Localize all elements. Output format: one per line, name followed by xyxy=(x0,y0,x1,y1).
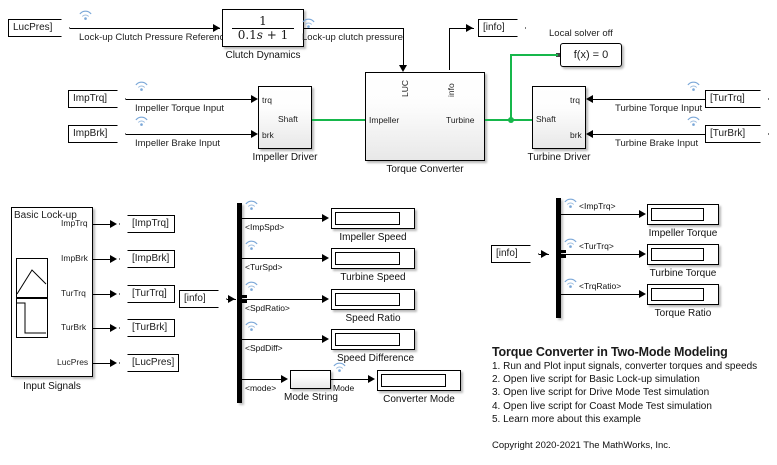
wireless-signal-icon xyxy=(135,81,148,92)
info-from-tag-torques-label: [info] xyxy=(496,248,518,259)
wireless-signal-icon xyxy=(564,198,577,209)
bus-port xyxy=(561,250,566,253)
turtrq-from-tag-label: [TurTrq] xyxy=(710,93,745,104)
imptrq-from-tag-label: ImpTrq] xyxy=(73,93,107,104)
local-solver-off-label: Local solver off xyxy=(549,28,613,39)
step-waveform-icon xyxy=(16,298,48,338)
impeller-driver-port-shaft: Shaft xyxy=(278,114,298,124)
wireless-signal-icon xyxy=(564,238,577,249)
turtrq-goto-tag[interactable]: [TurTrq] xyxy=(119,285,175,303)
arrowhead xyxy=(228,295,235,303)
signal-label-imptrq-scope: <ImpTrq> xyxy=(579,201,616,211)
impeller-brake-input-label: Impeller Brake Input xyxy=(135,138,220,149)
physical-connection-solver-v xyxy=(510,55,512,119)
torque-ratio-label: Torque Ratio xyxy=(636,308,730,319)
arrowhead xyxy=(110,220,117,228)
bus-selector-torques[interactable] xyxy=(556,198,561,318)
info-from-tag-speeds[interactable]: [info] xyxy=(179,290,227,308)
speed-ratio-display[interactable] xyxy=(331,289,415,310)
input-signals-port-imptrq: ImpTrq xyxy=(61,218,88,228)
lucpres-from-tag[interactable]: LucPres] xyxy=(8,19,70,37)
copyright-text: Copyright 2020-2021 The MathWorks, Inc. xyxy=(492,439,772,452)
info-goto-tag-top-label: [info] xyxy=(483,22,505,33)
lockup-clutch-pressure-label: Lock-up clutch pressure xyxy=(302,32,403,43)
impbrk-goto-tag-label: [ImpBrk] xyxy=(132,253,169,264)
arrowhead xyxy=(639,290,646,298)
turbine-driver-port-shaft: Shaft xyxy=(536,114,556,124)
speed-difference-display[interactable] xyxy=(331,329,415,350)
wire-impbrk xyxy=(126,134,254,135)
arrowhead xyxy=(322,295,329,303)
turbrk-from-tag-label: [TurBrk] xyxy=(710,128,745,139)
mode-string-label: Mode String xyxy=(276,392,346,403)
wireless-signal-icon xyxy=(245,240,258,251)
arrowhead xyxy=(541,250,548,258)
arrowhead xyxy=(281,375,288,383)
torque-converter-port-turbine: Turbine xyxy=(446,115,475,125)
impbrk-from-tag-label: ImpBrk] xyxy=(73,128,107,139)
turbine-torque-input-label: Turbine Torque Input xyxy=(615,103,702,114)
wire-impspd xyxy=(242,218,326,219)
description-item-3[interactable]: 3. Open live script for Drive Mode Test … xyxy=(492,386,772,399)
ramp-waveform-icon xyxy=(16,258,48,298)
info-goto-tag-top[interactable]: [info] xyxy=(478,19,526,37)
wire-lucpres-to-clutch xyxy=(70,28,220,29)
converter-mode-label: Converter Mode xyxy=(369,394,469,405)
impeller-driver-port-trq: trq xyxy=(262,95,272,105)
input-signals-port-lucpres: LucPres xyxy=(57,357,88,367)
solver-configuration-block[interactable]: f(x) = 0 xyxy=(560,43,622,67)
arrowhead xyxy=(110,255,117,263)
signal-label-mode: <mode> xyxy=(245,383,276,393)
signal-label-turtrq-scope: <TurTrq> xyxy=(579,241,614,251)
wireless-signal-icon xyxy=(245,281,258,292)
arrowhead xyxy=(399,65,407,72)
converter-mode-display[interactable] xyxy=(377,370,461,391)
turbrk-goto-tag[interactable]: [TurBrk] xyxy=(119,319,175,337)
wire-turtrq-scope xyxy=(561,254,643,255)
imptrq-goto-tag-label: [ImpTrq] xyxy=(132,218,169,229)
arrowhead xyxy=(322,214,329,222)
wireless-signal-icon xyxy=(135,116,148,127)
simulink-model-canvas: LucPres] Lock-up Clutch Pressure Referen… xyxy=(0,0,777,465)
input-signals-port-impbrk: ImpBrk xyxy=(61,253,88,263)
input-signals-port-turtrq: TurTrq xyxy=(61,288,86,298)
wireless-signal-icon xyxy=(687,116,700,127)
arrowhead xyxy=(466,24,473,32)
impbrk-from-tag[interactable]: ImpBrk] xyxy=(68,125,126,143)
wireless-signal-icon xyxy=(245,321,258,332)
wire-info-up xyxy=(449,28,450,70)
impeller-speed-display[interactable] xyxy=(331,208,415,229)
wire-spddiff xyxy=(242,339,326,340)
arrowhead xyxy=(110,359,117,367)
wire-clutch-to-luc xyxy=(304,28,403,29)
wire-turtrq xyxy=(593,99,705,100)
physical-connection-impeller xyxy=(312,119,365,121)
description-panel: Torque Converter in Two-Mode Modeling 1.… xyxy=(492,345,772,452)
description-item-2[interactable]: 2. Open live script for Basic Lock-up si… xyxy=(492,373,772,386)
arrowhead xyxy=(639,250,646,258)
tf-denominator: 0.1s + 1 xyxy=(232,28,295,42)
wire-trqratio-scope xyxy=(561,294,643,295)
bus-selector-speeds[interactable] xyxy=(237,203,242,403)
mode-string-block[interactable] xyxy=(290,370,331,389)
arrowhead xyxy=(110,290,117,298)
turbine-torque-label: Turbine Torque xyxy=(636,268,730,279)
wireless-signal-icon xyxy=(79,10,92,21)
lockup-clutch-pressure-reference-label: Lock-up Clutch Pressure Reference xyxy=(79,32,230,43)
arrowhead xyxy=(586,95,593,103)
impeller-torque-label: Impeller Torque xyxy=(636,228,730,239)
arrowhead xyxy=(368,375,375,383)
info-from-tag-speeds-label: [info] xyxy=(184,293,206,304)
torque-ratio-display[interactable] xyxy=(647,284,719,305)
arrowhead xyxy=(251,95,258,103)
turbrk-goto-tag-label: [TurBrk] xyxy=(132,322,167,333)
wireless-signal-icon xyxy=(687,81,700,92)
physical-connection-solver-h xyxy=(510,54,558,56)
speed-ratio-label: Speed Ratio xyxy=(323,313,423,324)
arrowhead xyxy=(586,130,593,138)
signal-label-mode-out: Mode xyxy=(333,383,354,393)
description-item-4[interactable]: 4. Open live script for Coast Mode Test … xyxy=(492,400,772,413)
bus-port xyxy=(242,295,247,298)
tf-numerator: 1 xyxy=(232,15,295,28)
arrowhead xyxy=(322,254,329,262)
arrowhead xyxy=(251,130,258,138)
arrowhead xyxy=(213,24,220,32)
impeller-driver-port-brk: brk xyxy=(262,130,274,140)
signal-label-impspd: <ImpSpd> xyxy=(245,222,284,232)
turbrk-from-tag[interactable]: [TurBrk] xyxy=(705,125,769,143)
arrowhead xyxy=(322,335,329,343)
wire-clutch-to-luc-v xyxy=(403,28,404,69)
turbine-brake-input-label: Turbine Brake Input xyxy=(615,138,698,149)
wireless-signal-icon xyxy=(302,18,315,29)
wireless-signal-icon xyxy=(245,200,258,211)
turbine-speed-label: Turbine Speed xyxy=(323,272,423,283)
signal-label-trqratio-scope: <TrqRatio> xyxy=(579,281,621,291)
turbine-speed-display[interactable] xyxy=(331,248,415,269)
torque-converter-label: Torque Converter xyxy=(375,164,475,175)
wire-mode xyxy=(242,379,285,380)
input-signals-label: Input Signals xyxy=(7,381,97,392)
signal-label-turspd: <TurSpd> xyxy=(245,262,283,272)
wire-turbrk xyxy=(593,134,705,135)
imptrq-goto-tag[interactable]: [ImpTrq] xyxy=(119,215,175,233)
turtrq-from-tag[interactable]: [TurTrq] xyxy=(705,90,769,108)
clutch-dynamics-label: Clutch Dynamics xyxy=(212,50,314,61)
clutch-dynamics-block[interactable]: 1 0.1s + 1 xyxy=(222,9,304,47)
turbine-torque-display[interactable] xyxy=(647,244,719,265)
turtrq-goto-tag-label: [TurTrq] xyxy=(132,288,167,299)
torque-converter-port-luc: LUC xyxy=(400,80,410,97)
arrowhead xyxy=(110,324,117,332)
solver-block-label: f(x) = 0 xyxy=(574,49,609,61)
wireless-signal-icon xyxy=(333,362,346,373)
impbrk-goto-tag[interactable]: [ImpBrk] xyxy=(119,250,175,268)
torque-converter-port-info: info xyxy=(446,83,456,97)
turbine-driver-label: Turbine Driver xyxy=(514,152,604,163)
wire-imptrq xyxy=(126,99,254,100)
impeller-torque-display[interactable] xyxy=(647,204,719,225)
turbine-driver-port-brk: brk xyxy=(570,130,582,140)
impeller-torque-input-label: Impeller Torque Input xyxy=(135,103,224,114)
wire-spdratio xyxy=(242,299,326,300)
clutch-dynamics-transfer-function: 1 0.1s + 1 xyxy=(232,15,295,41)
imptrq-from-tag[interactable]: ImpTrq] xyxy=(68,90,126,108)
signal-label-spddiff: <SpdDiff> xyxy=(245,343,283,353)
wire-imptrq-scope xyxy=(561,214,643,215)
impeller-speed-label: Impeller Speed xyxy=(323,232,423,243)
arrowhead xyxy=(639,210,646,218)
description-item-1[interactable]: 1. Run and Plot input signals, converter… xyxy=(492,360,772,373)
description-heading: Torque Converter in Two-Mode Modeling xyxy=(492,345,772,359)
signal-label-spdratio: <SpdRatio> xyxy=(245,303,290,313)
bus-port xyxy=(561,255,566,258)
impeller-driver-label: Impeller Driver xyxy=(240,152,330,163)
wireless-signal-icon xyxy=(564,278,577,289)
lucpres-goto-tag-label: [LucPres] xyxy=(132,357,174,368)
lucpres-goto-tag[interactable]: [LucPres] xyxy=(119,354,179,372)
wire-turspd xyxy=(242,258,326,259)
lucpres-from-tag-label: LucPres] xyxy=(13,22,52,33)
torque-converter-port-impeller: Impeller xyxy=(369,115,399,125)
turbine-driver-port-trq: trq xyxy=(570,95,580,105)
info-from-tag-torques[interactable]: [info] xyxy=(491,245,539,263)
description-item-5[interactable]: 5. Learn more about this example xyxy=(492,413,772,426)
input-signals-port-turbrk: TurBrk xyxy=(61,322,86,332)
wire-mode-to-display xyxy=(331,379,372,380)
